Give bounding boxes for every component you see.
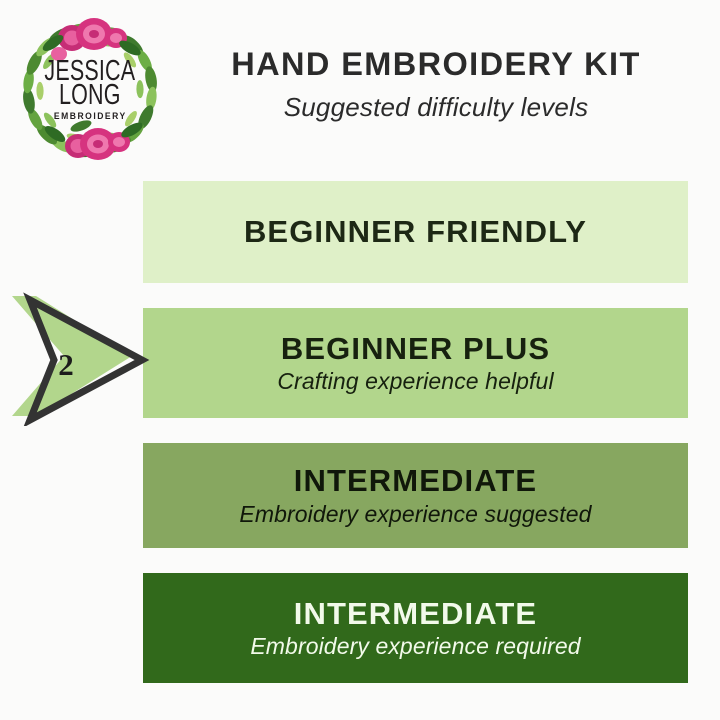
header-block: HAND EMBROIDERY KIT Suggested difficulty… bbox=[176, 46, 696, 123]
level-title: INTERMEDIATE bbox=[294, 598, 537, 630]
level-title: INTERMEDIATE bbox=[294, 465, 537, 497]
infographic-canvas: JESSICA LONG EMBROIDERY HAND EMBROIDERY … bbox=[0, 0, 720, 720]
level-title: BEGINNER PLUS bbox=[281, 333, 550, 365]
difficulty-level-intermediate-suggested[interactable]: INTERMEDIATE Embroidery experience sugge… bbox=[143, 443, 688, 548]
level-subtitle: Crafting experience helpful bbox=[277, 369, 553, 393]
page-subtitle: Suggested difficulty levels bbox=[176, 92, 696, 123]
brand-logo[interactable]: JESSICA LONG EMBROIDERY bbox=[12, 10, 168, 170]
rose-cluster-bottom bbox=[65, 128, 130, 160]
difficulty-level-intermediate-required[interactable]: INTERMEDIATE Embroidery experience requi… bbox=[143, 573, 688, 683]
difficulty-level-beginner-plus[interactable]: BEGINNER PLUS Crafting experience helpfu… bbox=[143, 308, 688, 418]
chevron-right-icon bbox=[6, 292, 152, 426]
selected-level-marker: 2 bbox=[6, 292, 152, 426]
difficulty-level-beginner-friendly[interactable]: BEGINNER FRIENDLY bbox=[143, 181, 688, 283]
floral-wreath-icon bbox=[12, 10, 168, 170]
level-title: BEGINNER FRIENDLY bbox=[244, 216, 587, 248]
level-subtitle: Embroidery experience suggested bbox=[239, 502, 591, 526]
level-subtitle: Embroidery experience required bbox=[250, 634, 580, 658]
page-title: HAND EMBROIDERY KIT bbox=[176, 46, 696, 83]
